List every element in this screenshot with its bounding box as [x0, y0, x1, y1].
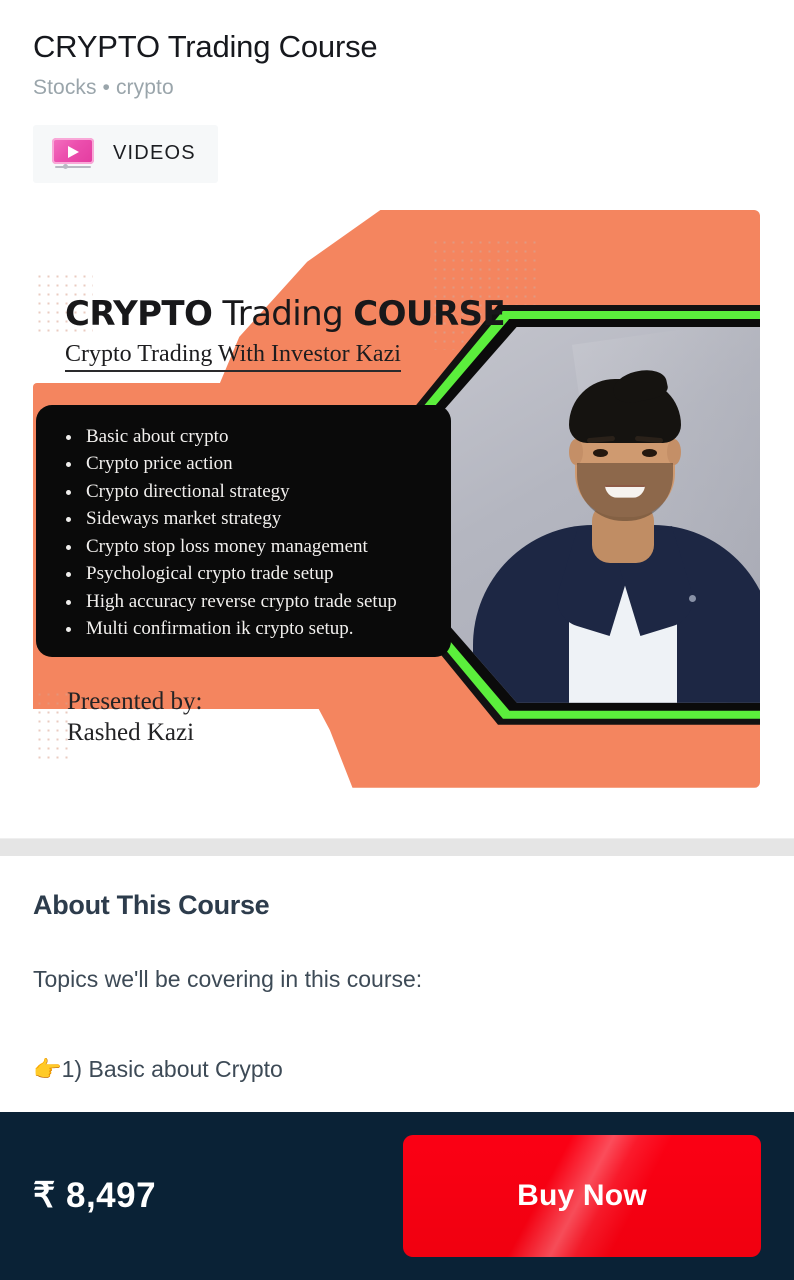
banner-topic-item: Multi confirmation ik crypto setup. — [58, 615, 433, 643]
about-intro-text: Topics we'll be covering in this course: — [33, 963, 761, 995]
videos-badge[interactable]: VIDEOS — [33, 125, 218, 183]
page-title: CRYPTO Trading Course — [33, 28, 761, 67]
videos-badge-label: VIDEOS — [113, 142, 196, 165]
banner-topics-box: Basic about crypto Crypto price action C… — [36, 405, 451, 657]
banner-headline: CRYPTO Trading COURSE — [65, 294, 505, 334]
banner-subheadline: Crypto Trading With Investor Kazi — [65, 341, 401, 372]
banner-headline-part3: COURSE — [353, 294, 505, 334]
presented-by-label: Presented by: — [67, 686, 202, 717]
banner-topic-item: Psychological crypto trade setup — [58, 560, 433, 588]
banner-headline-part1: CRYPTO — [65, 294, 212, 334]
video-player-icon — [52, 138, 94, 170]
about-section: About This Course Topics we'll be coveri… — [0, 856, 794, 1086]
banner-topic-item: Basic about crypto — [58, 423, 433, 451]
presenter-name: Rashed Kazi — [67, 717, 202, 748]
dot-pattern-decoration — [35, 690, 71, 760]
pointing-right-icon: 👉 — [33, 1057, 62, 1083]
course-price: ₹ 8,497 — [33, 1176, 156, 1216]
section-divider — [0, 838, 794, 856]
about-topic-text: 1) Basic about Crypto — [62, 1056, 283, 1082]
banner-topic-item: Crypto stop loss money management — [58, 533, 433, 561]
banner-topic-item: High accuracy reverse crypto trade setup — [58, 588, 433, 616]
presenter-portrait-illustration — [417, 327, 760, 703]
course-banner-image: CRYPTO Trading COURSE Crypto Trading Wit… — [33, 210, 760, 788]
banner-headline-part2: Trading — [212, 294, 353, 334]
course-detail-page: CRYPTO Trading Course Stocks • crypto VI… — [0, 0, 794, 1280]
buy-now-button[interactable]: Buy Now — [403, 1135, 761, 1257]
banner-topics-list: Basic about crypto Crypto price action C… — [58, 423, 433, 643]
banner-topic-item: Crypto directional strategy — [58, 478, 433, 506]
banner-topic-item: Sideways market strategy — [58, 505, 433, 533]
presented-by-block: Presented by: Rashed Kazi — [67, 686, 202, 748]
about-topic-line: 👉1) Basic about Crypto — [33, 1053, 761, 1086]
page-header: CRYPTO Trading Course Stocks • crypto VI… — [0, 0, 794, 183]
purchase-bar: ₹ 8,497 Buy Now — [0, 1112, 794, 1280]
course-banner-container[interactable]: CRYPTO Trading COURSE Crypto Trading Wit… — [0, 210, 794, 795]
course-category-subtitle: Stocks • crypto — [33, 76, 761, 100]
presenter-photo — [417, 327, 760, 703]
about-heading: About This Course — [33, 890, 761, 921]
badge-row: VIDEOS — [33, 125, 761, 183]
banner-topic-item: Crypto price action — [58, 450, 433, 478]
